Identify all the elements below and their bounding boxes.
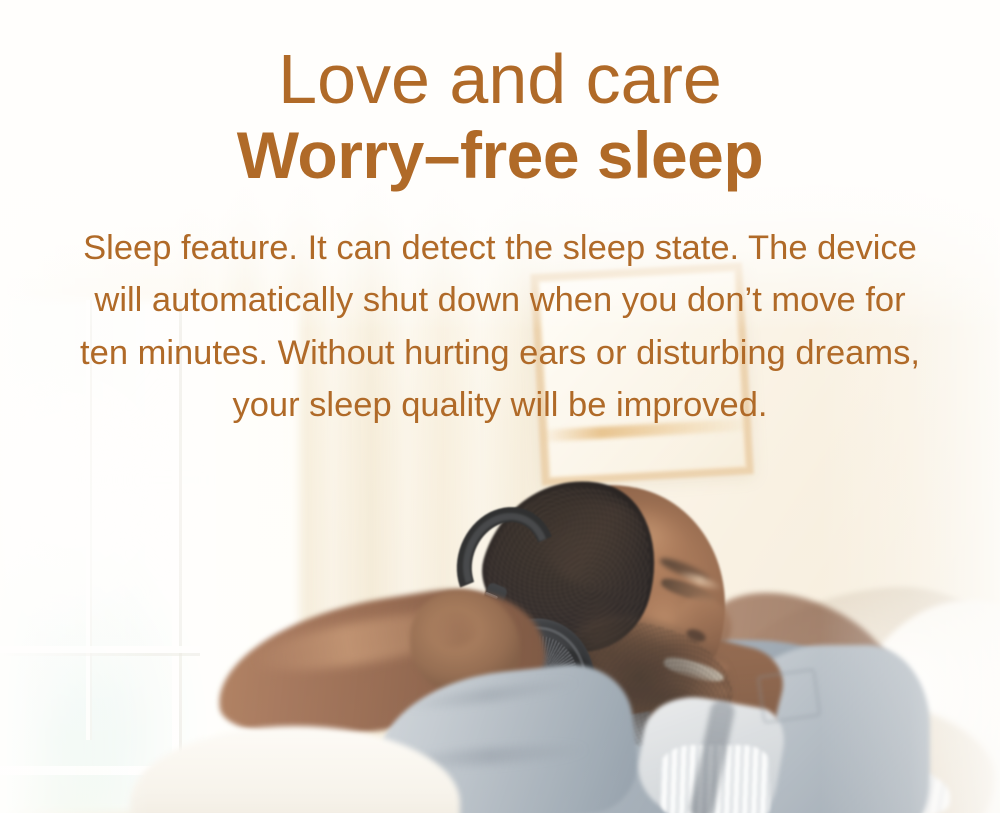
- headline-bold: Worry–free sleep: [0, 122, 1000, 188]
- headline-light: Love and care: [0, 44, 1000, 114]
- sleep-feature-banner: Love and care Worry–free sleep Sleep fea…: [0, 0, 1000, 813]
- body-paragraph: Sleep feature. It can detect the sleep s…: [72, 222, 928, 432]
- banner-text-layer: Love and care Worry–free sleep Sleep fea…: [0, 0, 1000, 813]
